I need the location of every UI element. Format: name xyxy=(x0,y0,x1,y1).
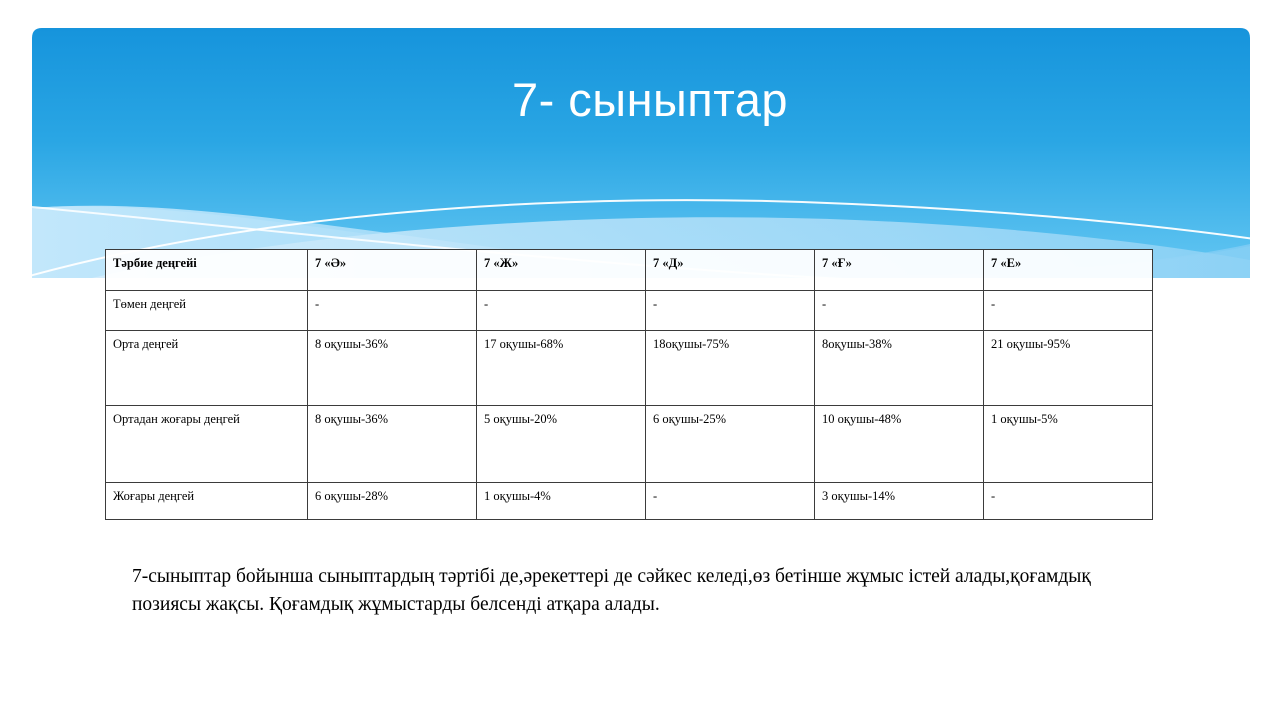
table-header-cell-class-b: 7 «Ж» xyxy=(477,250,646,291)
row-value: 8 оқушы-36% xyxy=(308,331,477,406)
row-value: 6 оқушы-28% xyxy=(308,483,477,520)
row-value: - xyxy=(477,291,646,331)
table-header-cell-level: Тәрбие деңгейі xyxy=(106,250,308,291)
row-label: Орта деңгей xyxy=(106,331,308,406)
row-value: 8 оқушы-36% xyxy=(308,406,477,483)
row-value: - xyxy=(646,483,815,520)
row-value: - xyxy=(308,291,477,331)
table-header-cell-class-d: 7 «Ғ» xyxy=(815,250,984,291)
table-header-cell-class-e: 7 «Е» xyxy=(984,250,1153,291)
table-header-cell-class-c: 7 «Д» xyxy=(646,250,815,291)
behaviour-level-table: Тәрбие деңгейі 7 «Ә» 7 «Ж» 7 «Д» 7 «Ғ» 7… xyxy=(105,249,1153,520)
row-value: 18оқушы-75% xyxy=(646,331,815,406)
table-row: Төмен деңгей - - - - - xyxy=(106,291,1153,331)
table-header-row: Тәрбие деңгейі 7 «Ә» 7 «Ж» 7 «Д» 7 «Ғ» 7… xyxy=(106,250,1153,291)
row-value: - xyxy=(984,291,1153,331)
row-label: Төмен деңгей xyxy=(106,291,308,331)
row-value: - xyxy=(984,483,1153,520)
row-value: 6 оқушы-25% xyxy=(646,406,815,483)
row-label: Ортадан жоғары деңгей xyxy=(106,406,308,483)
row-value: 5 оқушы-20% xyxy=(477,406,646,483)
row-value: 17 оқушы-68% xyxy=(477,331,646,406)
row-value: - xyxy=(646,291,815,331)
page-title: 7- сыныптар xyxy=(120,74,1180,126)
row-value: 8оқушы-38% xyxy=(815,331,984,406)
row-value: - xyxy=(815,291,984,331)
row-value: 1 оқушы-5% xyxy=(984,406,1153,483)
table-row: Жоғары деңгей 6 оқушы-28% 1 оқушы-4% - 3… xyxy=(106,483,1153,520)
table-row: Ортадан жоғары деңгей 8 оқушы-36% 5 оқуш… xyxy=(106,406,1153,483)
table-row: Орта деңгей 8 оқушы-36% 17 оқушы-68% 18о… xyxy=(106,331,1153,406)
summary-paragraph: 7-сыныптар бойынша сыныптардың тәртібі д… xyxy=(132,563,1122,618)
row-value: 1 оқушы-4% xyxy=(477,483,646,520)
header-banner-decoration xyxy=(32,28,1250,278)
row-label: Жоғары деңгей xyxy=(106,483,308,520)
banner-wave-graphic xyxy=(32,28,1250,278)
row-value: 21 оқушы-95% xyxy=(984,331,1153,406)
table-header-cell-class-a: 7 «Ә» xyxy=(308,250,477,291)
row-value: 3 оқушы-14% xyxy=(815,483,984,520)
slide-canvas: 7- сыныптар Тәрбие деңгейі 7 «Ә» 7 «Ж» 7… xyxy=(0,0,1280,720)
row-value: 10 оқушы-48% xyxy=(815,406,984,483)
